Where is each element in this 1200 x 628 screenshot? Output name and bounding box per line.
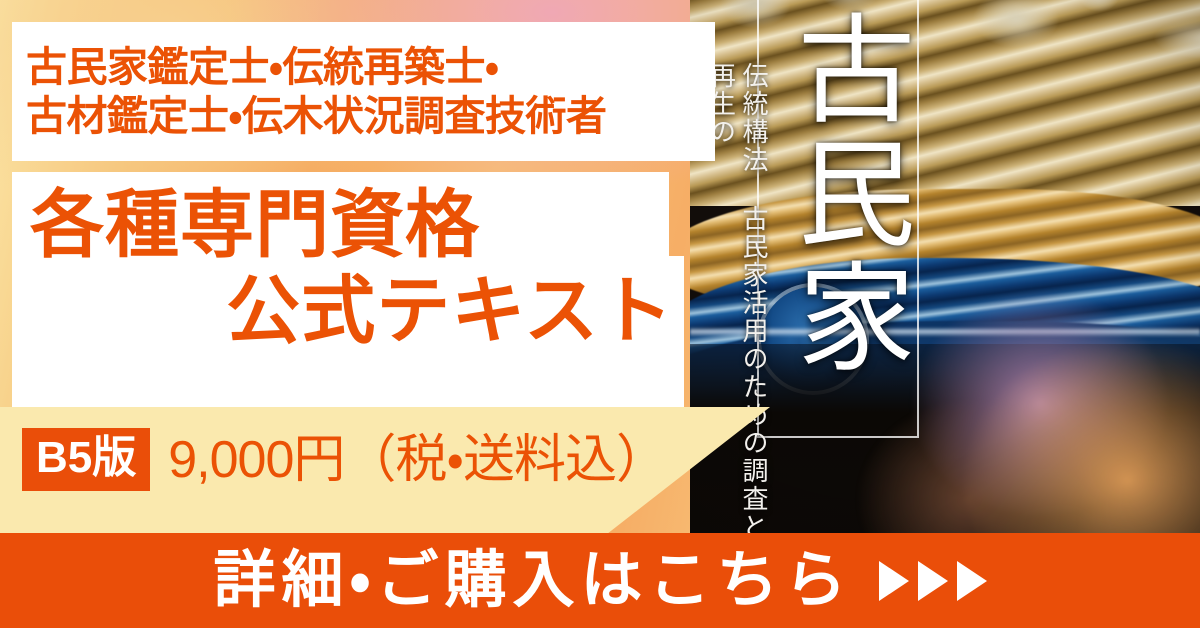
- cta-label: 詳細・ご購入はこちら: [213, 550, 852, 612]
- qualification-line-2: 古材鑑定士・伝木状況調査技術者: [26, 92, 715, 140]
- book-cover-photo: 古民家 伝統構法 古民家活用のための調査と再生の: [690, 0, 1200, 573]
- play-arrow-icon-2: [918, 561, 948, 601]
- headline-line-2: 公式テキスト: [30, 268, 684, 354]
- play-arrow-icon-1: [879, 561, 909, 601]
- qualification-line-1: 古民家鑑定士・伝統再築士・: [26, 43, 715, 91]
- promo-banner[interactable]: 古民家 伝統構法 古民家活用のための調査と再生の 古民家鑑定士・伝統再築士・ 古…: [0, 0, 1200, 628]
- price-text: 9,000円（税・送料込）: [168, 434, 667, 486]
- cta-button[interactable]: 詳細・ご購入はこちら: [0, 533, 1200, 628]
- headline-line-1: 各種専門資格: [30, 182, 684, 268]
- page-title: 各種専門資格 公式テキスト: [12, 172, 684, 407]
- book-cover-title: 古民家: [768, 8, 910, 380]
- format-badge: B5版: [22, 428, 150, 491]
- qualifications-panel: 古民家鑑定士・伝統再築士・ 古材鑑定士・伝木状況調査技術者: [12, 22, 715, 161]
- play-arrow-icon-3: [957, 561, 987, 601]
- price-row: B5版 9,000円（税・送料込）: [22, 428, 667, 491]
- cta-arrows: [879, 561, 987, 601]
